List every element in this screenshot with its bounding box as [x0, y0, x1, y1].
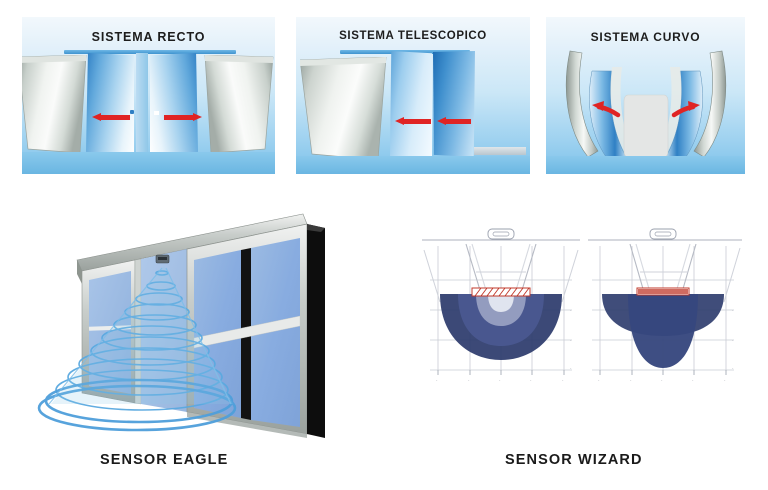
caption-sensor-eagle: SENSOR EAGLE: [100, 452, 228, 468]
glass-door-right-recto: [150, 53, 198, 156]
arrow-left-outer-telescopico: [395, 117, 431, 126]
svg-text:·: ·: [570, 338, 572, 344]
door-handle-right-recto: [154, 111, 159, 115]
wizard-diagram-left: ·· ··· ···: [422, 229, 580, 384]
bottom-section: .grid{stroke:#c9ccd4;stroke-width:0.8;fi…: [0, 188, 768, 490]
svg-text:·: ·: [499, 378, 501, 384]
svg-text:·: ·: [598, 378, 600, 384]
glass-door-left-recto: [86, 53, 134, 156]
arrow-left-inner-telescopico: [437, 117, 471, 126]
illustration-sheet: SISTEMA RECTO: [0, 0, 768, 490]
svg-text:·: ·: [630, 378, 632, 384]
panel-title-telescopico: SISTEMA TELESCOPICO: [296, 30, 530, 42]
svg-text:·: ·: [692, 378, 694, 384]
floor-bar-telescopico: [474, 147, 526, 155]
caption-sensor-wizard: SENSOR WIZARD: [505, 452, 643, 468]
glass-leaf-1-telescopico: [390, 51, 432, 161]
wizard-diagram-right: ·· ··· ···: [588, 229, 742, 384]
svg-text:·: ·: [530, 378, 532, 384]
svg-text:·: ·: [570, 366, 572, 372]
svg-text:·: ·: [468, 378, 470, 384]
svg-text:·: ·: [724, 378, 726, 384]
arrow-left-recto: [92, 113, 130, 122]
floor-band-curvo: [546, 156, 745, 174]
arrow-right-recto: [164, 113, 202, 122]
metal-leaf-left-recto: [22, 55, 90, 155]
panel-sistema-curvo: SISTEMA CURVO: [546, 17, 745, 174]
svg-text:·: ·: [570, 308, 572, 314]
sensor-eagle-illustration: [35, 198, 350, 438]
panel-title-recto: SISTEMA RECTO: [22, 30, 275, 44]
door-handle-left-recto: [130, 110, 134, 114]
panel-sistema-telescopico: SISTEMA TELESCOPICO: [296, 17, 530, 174]
panel-sistema-recto: SISTEMA RECTO: [22, 17, 275, 174]
svg-text:·: ·: [436, 378, 438, 384]
metal-leaf-right-recto: [203, 55, 275, 155]
panel-title-curvo: SISTEMA CURVO: [546, 30, 745, 44]
metal-leaf-telescopico: [300, 57, 392, 162]
floor-band-telescopico: [296, 156, 530, 174]
glass-leaf-2-telescopico: [433, 51, 475, 157]
curved-door-assembly: [554, 45, 738, 173]
svg-text:·: ·: [732, 308, 734, 314]
sensor-wizard-diagrams: .grid{stroke:#c9ccd4;stroke-width:0.8;fi…: [420, 210, 760, 415]
floor-band-recto: [22, 152, 275, 174]
center-post-recto: [136, 53, 148, 159]
svg-text:·: ·: [661, 378, 663, 384]
svg-text:·: ·: [562, 378, 564, 384]
svg-text:·: ·: [732, 366, 734, 372]
svg-text:·: ·: [732, 338, 734, 344]
